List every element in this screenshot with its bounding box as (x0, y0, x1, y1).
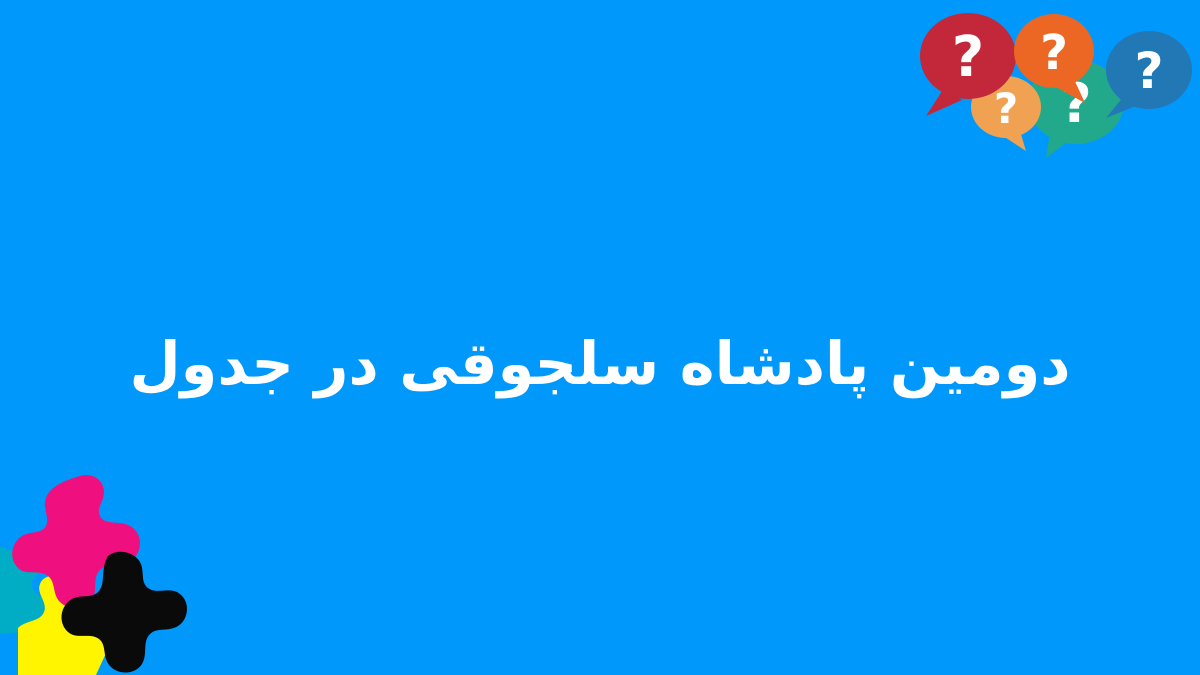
headline-text: دومین پادشاه سلجوقی در جدول (129, 329, 1070, 399)
svg-text:?: ? (952, 25, 984, 90)
svg-text:?: ? (994, 84, 1018, 133)
svg-text:?: ? (1134, 42, 1163, 100)
banner: ? ? ? ? (0, 0, 1200, 675)
puzzle-pieces-graphic (0, 460, 225, 675)
speech-bubble-blue-icon: ? (1106, 31, 1192, 118)
speech-bubble-cluster: ? ? ? ? (900, 0, 1200, 185)
page-title: دومین پادشاه سلجوقی در جدول (0, 316, 1200, 412)
svg-text:?: ? (1040, 25, 1068, 81)
